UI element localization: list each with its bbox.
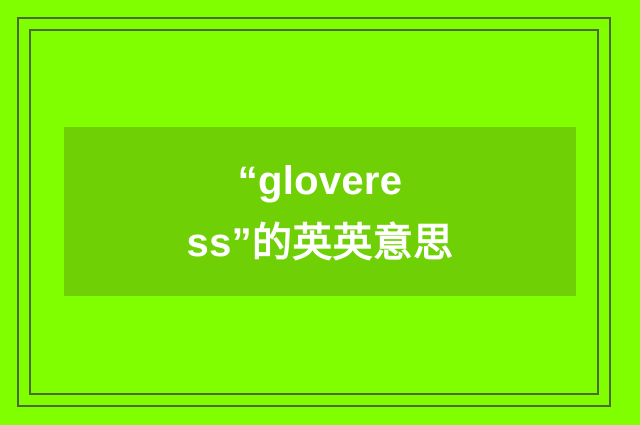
panel-title-text: “glovere ss”的英英意思	[64, 150, 576, 274]
title-panel: “glovere ss”的英英意思	[64, 127, 576, 296]
slide-canvas: “glovere ss”的英英意思	[0, 0, 640, 425]
